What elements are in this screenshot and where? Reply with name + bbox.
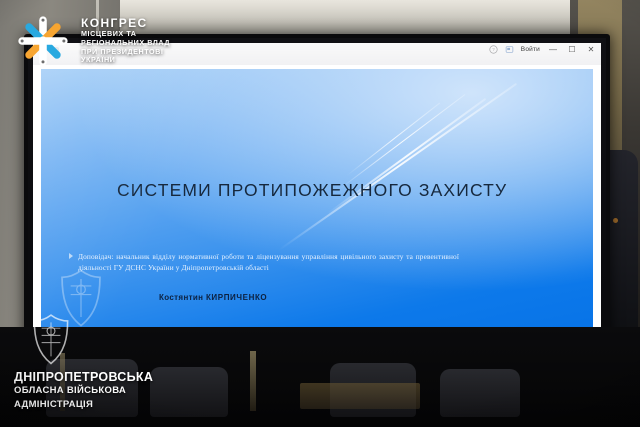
watermark-line-3: АДМІНІСТРАЦІЯ	[14, 398, 153, 412]
chair-2	[150, 367, 228, 417]
coat-of-arms-watermark-icon	[28, 313, 74, 365]
decorative-streak-1	[278, 83, 517, 251]
slide-title: СИСТЕМИ ПРОТИПОЖЕЖНОГО ЗАХИСТУ	[117, 180, 547, 201]
speaker-last-name: КИРПИЧЕНКО	[206, 293, 267, 302]
jacket-button	[613, 218, 618, 223]
presentation-slide[interactable]: СИСТЕМИ ПРОТИПОЖЕЖНОГО ЗАХИСТУ Доповідач…	[41, 69, 593, 369]
presentation-room-scene: ? Войти — ☐ ✕ СИСТЕМИ ПРОТИПОЖЕЖНОГО ЗАХ…	[0, 0, 640, 427]
brand-line-5: УКРАЇНИ	[81, 56, 170, 65]
titlebar-right-group: ? Войти — ☐ ✕	[489, 45, 597, 54]
conference-table	[300, 383, 420, 409]
bullet-triangle-icon	[69, 253, 73, 259]
svg-text:?: ?	[492, 47, 495, 52]
watermark-line-2: ОБЛАСНА ВІЙСЬКОВА	[14, 384, 153, 398]
slide-speaker-name: Костянтин КИРПИЧЕНКО	[159, 293, 267, 302]
help-icon[interactable]: ?	[489, 45, 498, 54]
congress-brand-text: КОНГРЕС МІСЦЕВИХ ТА РЕГІОНАЛЬНИХ ВЛАД ПР…	[81, 17, 170, 64]
congress-brand-logo: КОНГРЕС МІСЦЕВИХ ТА РЕГІОНАЛЬНИХ ВЛАД ПР…	[14, 12, 170, 70]
chair-4	[440, 369, 520, 417]
signin-button[interactable]: Войти	[521, 46, 540, 53]
congress-cross-logo-icon	[14, 12, 72, 70]
slide-bullet-block: Доповідач: начальник відділу нормативної…	[69, 251, 459, 273]
speaker-first-name: Костянтин	[159, 293, 203, 302]
maximize-button[interactable]: ☐	[566, 45, 578, 54]
watermark-line-1: ДНІПРОПЕТРОВСЬКА	[14, 371, 153, 385]
glass-partition-1	[250, 351, 256, 411]
close-button[interactable]: ✕	[585, 45, 597, 54]
slide-bullet-text: Доповідач: начальник відділу нормативної…	[78, 251, 459, 273]
share-icon[interactable]	[505, 45, 514, 54]
decorative-streak-3	[339, 94, 466, 190]
broadcast-watermark-caption: ДНІПРОПЕТРОВСЬКА ОБЛАСНА ВІЙСЬКОВА АДМІН…	[14, 371, 153, 412]
minimize-button[interactable]: —	[547, 45, 559, 54]
